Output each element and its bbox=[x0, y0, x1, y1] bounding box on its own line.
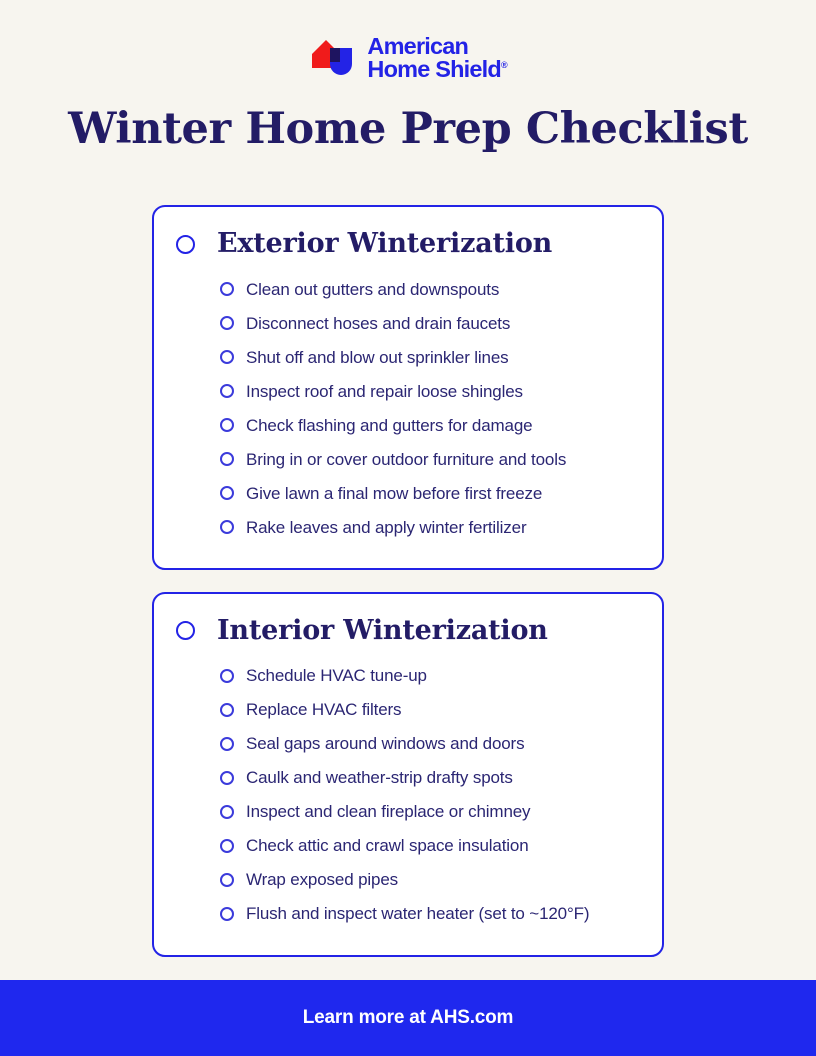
section-title: Exterior Winterization bbox=[217, 229, 552, 259]
page-title: Winter Home Prep Checklist bbox=[0, 107, 816, 152]
logo-wordmark: American Home Shield® bbox=[367, 35, 507, 82]
item-checkbox-circle-icon[interactable] bbox=[220, 452, 234, 466]
list-item-label: Inspect and clean fireplace or chimney bbox=[246, 801, 530, 822]
item-checkbox-circle-icon[interactable] bbox=[220, 350, 234, 364]
list-item-label: Flush and inspect water heater (set to ~… bbox=[246, 903, 589, 924]
item-checkbox-circle-icon[interactable] bbox=[220, 486, 234, 500]
list-item-label: Wrap exposed pipes bbox=[246, 869, 398, 890]
item-checkbox-circle-icon[interactable] bbox=[220, 418, 234, 432]
item-checkbox-circle-icon[interactable] bbox=[220, 737, 234, 751]
list-item[interactable]: Inspect and clean fireplace or chimney bbox=[220, 795, 636, 829]
item-checkbox-circle-icon[interactable] bbox=[220, 384, 234, 398]
checklist-page: American Home Shield® Winter Home Prep C… bbox=[0, 0, 816, 1056]
list-item[interactable]: Flush and inspect water heater (set to ~… bbox=[220, 897, 636, 931]
list-item[interactable]: Disconnect hoses and drain faucets bbox=[220, 306, 636, 340]
list-item[interactable]: Clean out gutters and downspouts bbox=[220, 272, 636, 306]
item-checkbox-circle-icon[interactable] bbox=[220, 669, 234, 683]
list-item-label: Shut off and blow out sprinkler lines bbox=[246, 347, 509, 368]
section-checkbox-circle-icon[interactable] bbox=[176, 621, 195, 640]
logo-line-2: Home Shield® bbox=[367, 58, 507, 81]
checklist-exterior: Clean out gutters and downspouts Disconn… bbox=[176, 272, 636, 544]
list-item[interactable]: Rake leaves and apply winter fertilizer bbox=[220, 510, 636, 544]
list-item-label: Clean out gutters and downspouts bbox=[246, 279, 499, 300]
checklist-sections: Exterior Winterization Clean out gutters… bbox=[0, 205, 816, 956]
list-item[interactable]: Caulk and weather-strip drafty spots bbox=[220, 761, 636, 795]
section-checkbox-circle-icon[interactable] bbox=[176, 235, 195, 254]
list-item[interactable]: Bring in or cover outdoor furniture and … bbox=[220, 442, 636, 476]
item-checkbox-circle-icon[interactable] bbox=[220, 703, 234, 717]
list-item-label: Bring in or cover outdoor furniture and … bbox=[246, 449, 566, 470]
brand-logo-block: American Home Shield® bbox=[0, 34, 816, 81]
list-item[interactable]: Check attic and crawl space insulation bbox=[220, 829, 636, 863]
list-item[interactable]: Seal gaps around windows and doors bbox=[220, 727, 636, 761]
list-item-label: Seal gaps around windows and doors bbox=[246, 733, 524, 754]
list-item[interactable]: Wrap exposed pipes bbox=[220, 863, 636, 897]
list-item[interactable]: Check flashing and gutters for damage bbox=[220, 408, 636, 442]
list-item-label: Inspect roof and repair loose shingles bbox=[246, 381, 523, 402]
item-checkbox-circle-icon[interactable] bbox=[220, 282, 234, 296]
list-item-label: Give lawn a final mow before first freez… bbox=[246, 483, 542, 504]
list-item-label: Rake leaves and apply winter fertilizer bbox=[246, 517, 526, 538]
list-item[interactable]: Schedule HVAC tune-up bbox=[220, 659, 636, 693]
logo-line-2-text: Home Shield bbox=[367, 56, 501, 82]
list-item-label: Replace HVAC filters bbox=[246, 699, 401, 720]
house-shield-logo-icon bbox=[308, 34, 356, 80]
footer-bar: Learn more at AHS.com bbox=[0, 980, 816, 1056]
item-checkbox-circle-icon[interactable] bbox=[220, 873, 234, 887]
section-card-interior: Interior Winterization Schedule HVAC tun… bbox=[152, 592, 664, 957]
list-item-label: Check flashing and gutters for damage bbox=[246, 415, 532, 436]
item-checkbox-circle-icon[interactable] bbox=[220, 520, 234, 534]
item-checkbox-circle-icon[interactable] bbox=[220, 805, 234, 819]
section-header-exterior[interactable]: Exterior Winterization bbox=[176, 229, 636, 259]
logo-line-1: American bbox=[367, 35, 507, 58]
footer-cta-link[interactable]: Learn more at AHS.com bbox=[303, 1007, 514, 1029]
section-header-interior[interactable]: Interior Winterization bbox=[176, 616, 636, 646]
footer-spacer bbox=[0, 957, 816, 980]
list-item[interactable]: Replace HVAC filters bbox=[220, 693, 636, 727]
item-checkbox-circle-icon[interactable] bbox=[220, 907, 234, 921]
list-item-label: Check attic and crawl space insulation bbox=[246, 835, 529, 856]
registered-trademark-icon: ® bbox=[501, 60, 508, 70]
list-item[interactable]: Inspect roof and repair loose shingles bbox=[220, 374, 636, 408]
list-item[interactable]: Shut off and blow out sprinkler lines bbox=[220, 340, 636, 374]
list-item-label: Schedule HVAC tune-up bbox=[246, 665, 427, 686]
item-checkbox-circle-icon[interactable] bbox=[220, 316, 234, 330]
section-card-exterior: Exterior Winterization Clean out gutters… bbox=[152, 205, 664, 570]
american-home-shield-logo: American Home Shield® bbox=[308, 34, 507, 81]
section-title: Interior Winterization bbox=[217, 616, 548, 646]
item-checkbox-circle-icon[interactable] bbox=[220, 839, 234, 853]
list-item-label: Caulk and weather-strip drafty spots bbox=[246, 767, 513, 788]
list-item-label: Disconnect hoses and drain faucets bbox=[246, 313, 510, 334]
checklist-interior: Schedule HVAC tune-up Replace HVAC filte… bbox=[176, 659, 636, 931]
list-item[interactable]: Give lawn a final mow before first freez… bbox=[220, 476, 636, 510]
item-checkbox-circle-icon[interactable] bbox=[220, 771, 234, 785]
